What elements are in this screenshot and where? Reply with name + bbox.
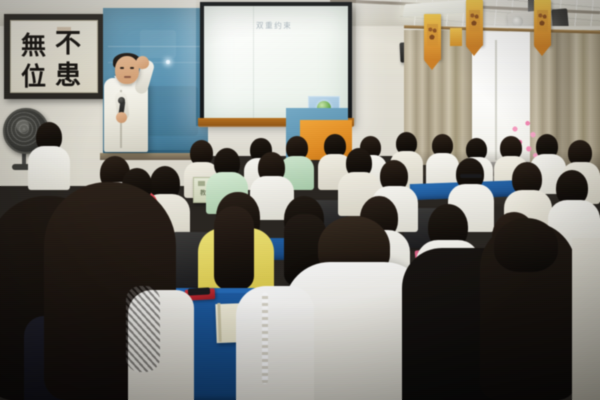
foreground-right-edge-person	[572, 238, 600, 400]
microphone-capsule	[118, 97, 125, 104]
slide-title: 双重约束	[256, 20, 292, 31]
panel-highlight	[140, 30, 176, 58]
hanging-banner-1	[466, 0, 483, 56]
calligraphy-char-2: 不	[55, 31, 81, 57]
hanging-banner-2	[424, 14, 441, 70]
calligraphy-char-1: 無	[21, 33, 46, 58]
foreground-woman-head	[494, 218, 558, 272]
presenter-eye-right	[130, 67, 134, 69]
hanging-banner-4	[450, 28, 462, 46]
audience-hair-yellow	[214, 206, 254, 290]
eyeglasses-icon-1	[460, 174, 482, 178]
phone-screen[interactable]	[188, 287, 210, 295]
foreground-person-3-buttons	[262, 292, 268, 384]
foreground-person-3-sleeve	[236, 286, 314, 400]
calligraphy-char-4: 患	[55, 63, 81, 89]
projected-slide: 双重约束	[204, 6, 348, 120]
light-reflection-icon	[166, 60, 170, 64]
presenter-mouth	[124, 76, 131, 78]
presenter-eye-left	[120, 67, 124, 69]
projection-screen: 双重约束	[200, 2, 352, 124]
hanging-banner-3	[534, 0, 551, 56]
panel-line	[108, 46, 204, 47]
audience-body-far-11	[28, 146, 70, 190]
placard-logo-icon	[198, 181, 205, 186]
framed-calligraphy: 無 不 位 患	[4, 14, 104, 99]
classroom-photo: 無 不 位 患 双重约束	[0, 0, 600, 400]
frame-mat: 無 不 位 患	[10, 20, 98, 93]
window-frame-bar	[495, 40, 497, 160]
calligraphy-char-3: 位	[21, 64, 46, 89]
foreground-person-2-lace	[126, 286, 160, 372]
screen-fold-line	[253, 6, 254, 120]
presenter-hand-mic	[116, 112, 127, 123]
